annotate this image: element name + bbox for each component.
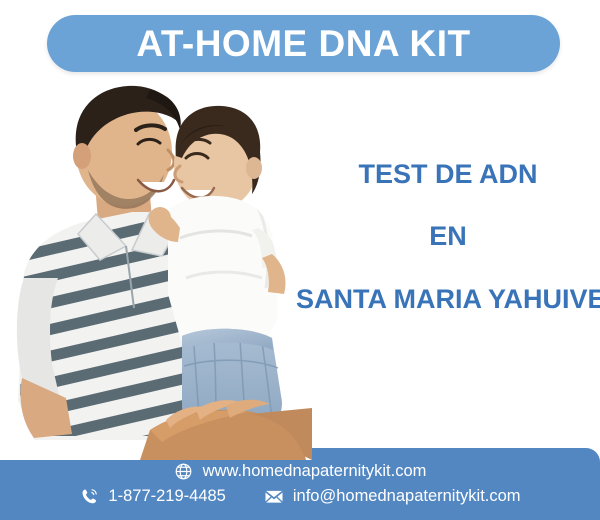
headline-block: TEST DE ADN EN SANTA MARIA YAHUIVE <box>296 160 600 313</box>
footer-row-website: www.homednapaternitykit.com <box>174 462 427 482</box>
poster-canvas: AT-HOME DNA KIT <box>0 0 600 520</box>
website-label: www.homednapaternitykit.com <box>203 463 427 480</box>
email-label: info@homednapaternitykit.com <box>293 488 521 505</box>
envelope-icon <box>264 487 284 507</box>
email-contact-item[interactable]: info@homednapaternitykit.com <box>264 487 521 507</box>
phone-icon <box>79 487 99 507</box>
headline-test-type: TEST DE ADN <box>296 160 600 188</box>
footer-contact-block: www.homednapaternitykit.com 1-877-219-44… <box>0 448 600 520</box>
website-contact-item[interactable]: www.homednapaternitykit.com <box>174 462 427 482</box>
footer-row-phone-email: 1-877-219-4485 info@homednapaternitykit.… <box>79 487 520 507</box>
page-title: AT-HOME DNA KIT <box>136 25 470 62</box>
headline-location: SANTA MARIA YAHUIVE <box>296 285 600 313</box>
phone-label: 1-877-219-4485 <box>108 488 225 505</box>
phone-contact-item[interactable]: 1-877-219-4485 <box>79 487 225 507</box>
headline-preposition: EN <box>296 222 600 250</box>
globe-icon <box>174 462 194 482</box>
father-and-child-photo <box>0 78 312 460</box>
header-banner: AT-HOME DNA KIT <box>47 15 560 72</box>
